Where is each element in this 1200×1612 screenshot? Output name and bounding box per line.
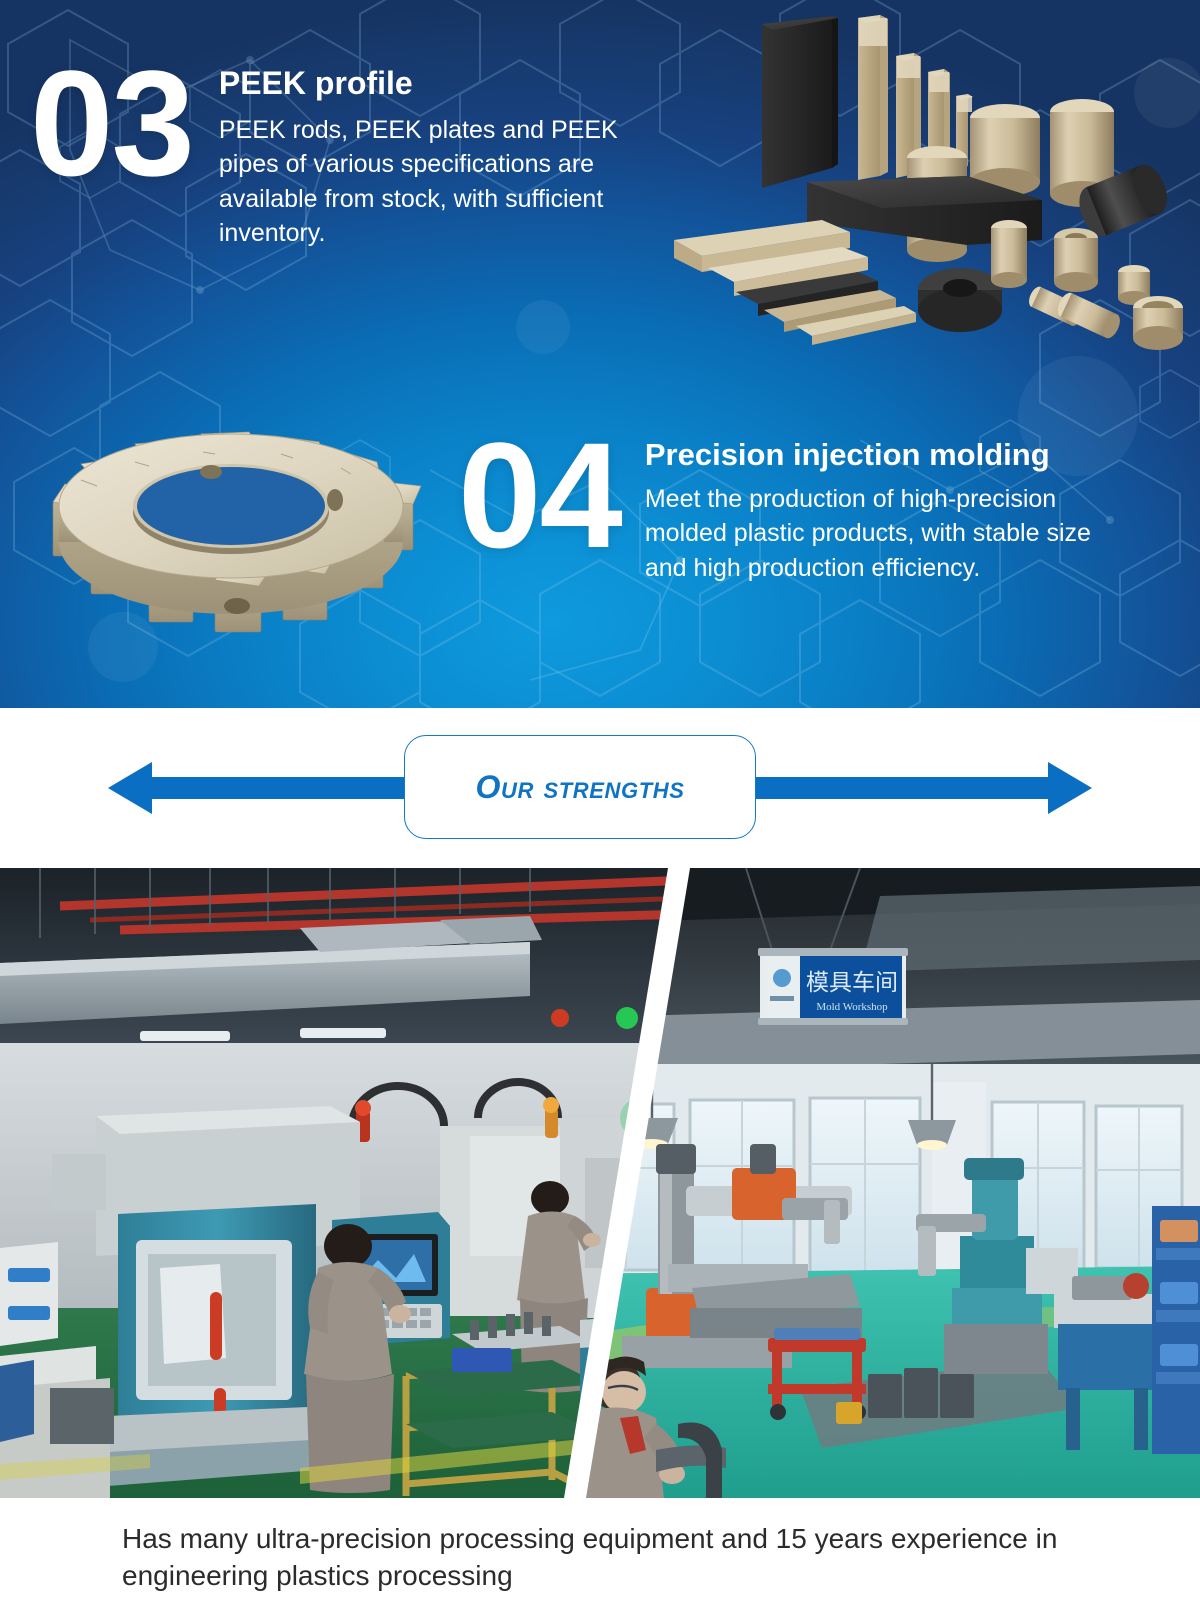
feature-text-03: PEEK profile PEEK rods, PEEK plates and … bbox=[219, 52, 639, 250]
feature-title-03: PEEK profile bbox=[219, 66, 639, 101]
peek-ring-image bbox=[26, 372, 436, 668]
workshop-photo-strip: 模具车间 Mold Workshop bbox=[0, 868, 1200, 1498]
feature-block-04: 04 Precision injection molding Meet the … bbox=[458, 424, 1125, 585]
feature-text-04: Precision injection molding Meet the pro… bbox=[645, 424, 1125, 585]
photo-cnc-workshop bbox=[0, 868, 690, 1498]
feature-body-03: PEEK rods, PEEK plates and PEEK pipes of… bbox=[219, 113, 639, 250]
caption-text: Has many ultra-precision processing equi… bbox=[122, 1520, 1080, 1594]
peek-profiles-image bbox=[672, 0, 1200, 352]
sign-chinese-text: 模具车间 bbox=[806, 970, 898, 996]
promo-page: 03 PEEK profile PEEK rods, PEEK plates a… bbox=[0, 0, 1200, 1612]
strengths-label: Our strengths bbox=[475, 769, 684, 806]
sign-english-text: Mold Workshop bbox=[816, 1001, 888, 1013]
feature-title-04: Precision injection molding bbox=[645, 438, 1125, 472]
feature-number-03: 03 bbox=[30, 54, 193, 192]
bottom-caption: Has many ultra-precision processing equi… bbox=[0, 1498, 1200, 1612]
feature-block-03: 03 PEEK profile PEEK rods, PEEK plates a… bbox=[30, 52, 639, 250]
hero-section: 03 PEEK profile PEEK rods, PEEK plates a… bbox=[0, 0, 1200, 708]
feature-number-04: 04 bbox=[458, 426, 621, 564]
strengths-pill: Our strengths bbox=[404, 735, 756, 839]
feature-body-04: Meet the production of high-precision mo… bbox=[645, 482, 1125, 585]
